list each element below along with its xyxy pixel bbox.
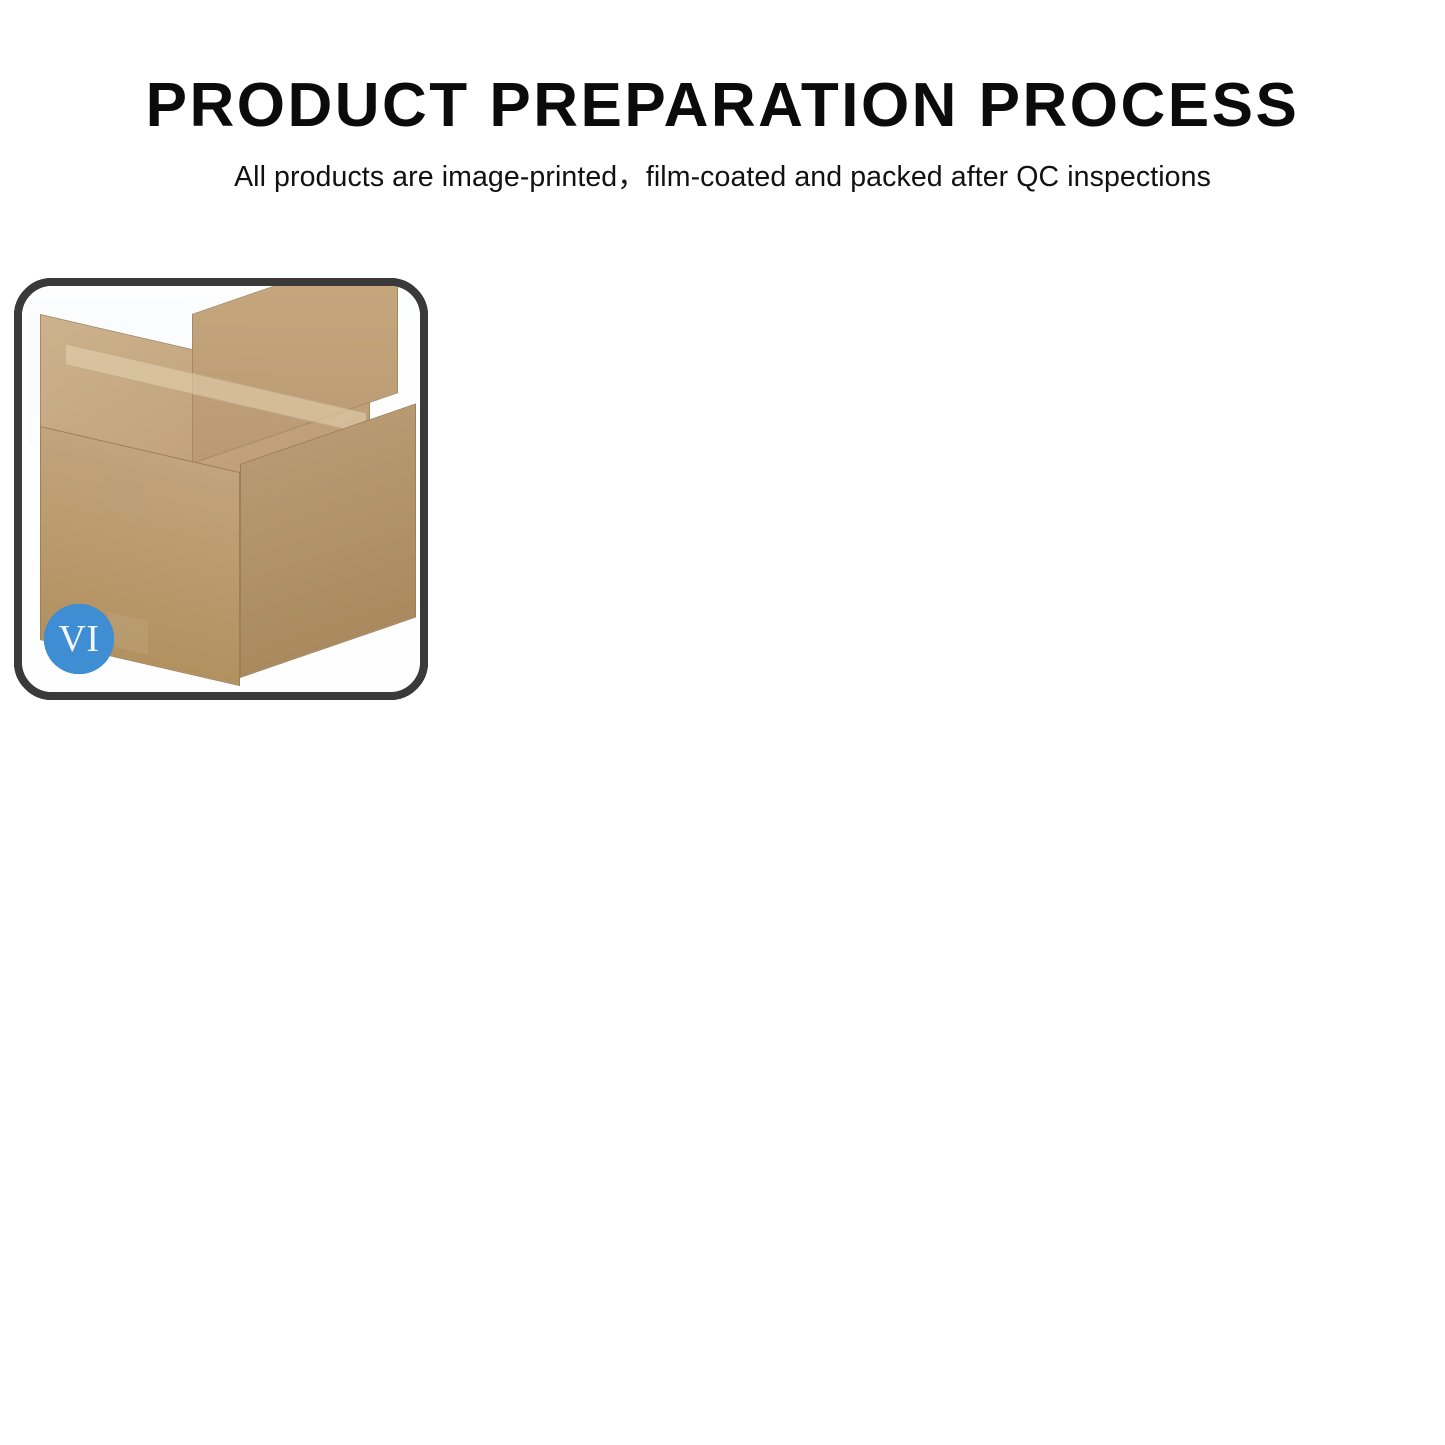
infographic-page: PRODUCT PREPARATION PROCESS All products… [0,0,1445,1445]
step-card-6[interactable]: VI [14,278,428,700]
page-subtitle: All products are image-printed，film-coat… [0,154,1445,195]
page-title: PRODUCT PREPARATION PROCESS [0,74,1445,137]
step-badge-6: VI [44,604,114,674]
process-steps-grid: I II [14,278,1431,1310]
header: PRODUCT PREPARATION PROCESS All products… [0,0,1445,195]
